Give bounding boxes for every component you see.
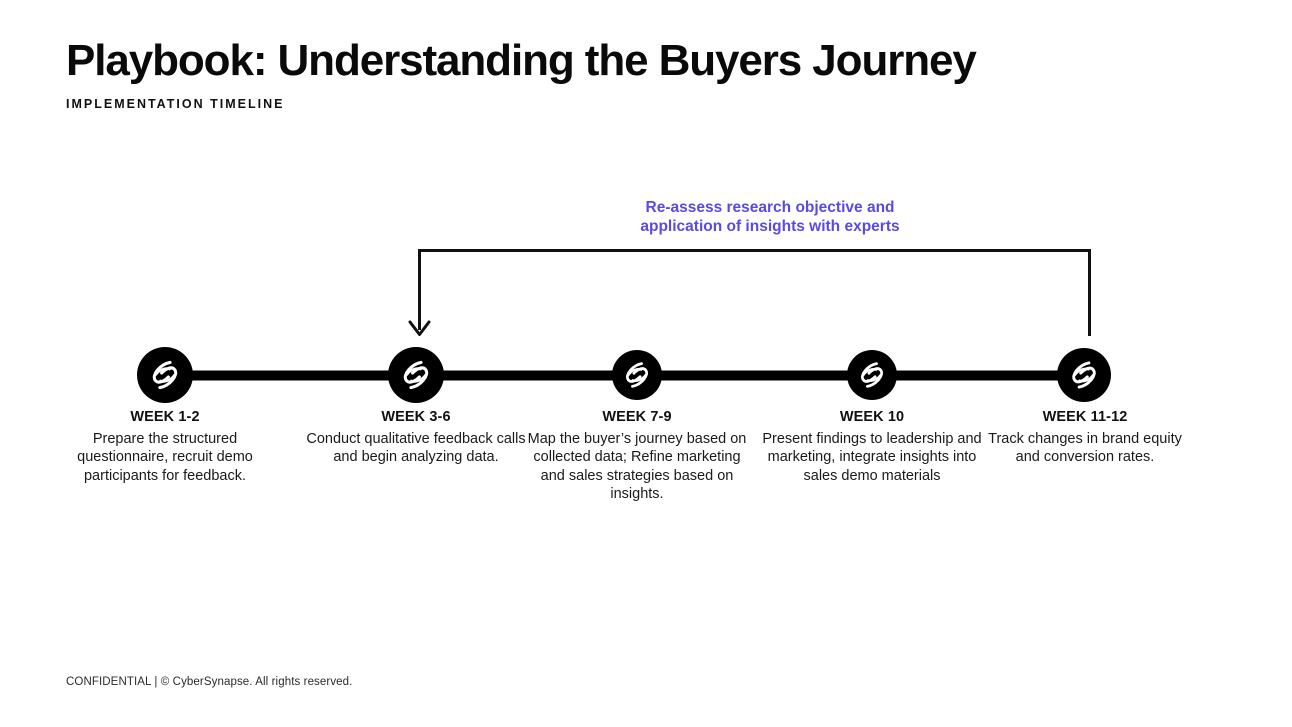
milestone-title: WEEK 7-9 [524, 408, 750, 426]
milestone-week-11-12: WEEK 11-12 Track changes in brand equity… [980, 408, 1190, 467]
milestone-week-1-2: WEEK 1-2 Prepare the structured question… [55, 408, 275, 485]
feedback-loop-bracket [410, 251, 1090, 337]
timeline-node-5 [1057, 348, 1111, 402]
milestone-description: Track changes in brand equity and conver… [980, 430, 1190, 467]
timeline-node-2 [388, 347, 444, 403]
milestone-week-3-6: WEEK 3-6 Conduct qualitative feedback ca… [300, 408, 532, 467]
milestone-title: WEEK 10 [756, 408, 988, 426]
milestone-labels: WEEK 1-2 Prepare the structured question… [0, 408, 1292, 558]
page-subtitle: IMPLEMENTATION TIMELINE [66, 97, 1166, 111]
timeline-node-1 [137, 347, 193, 403]
milestone-title: WEEK 1-2 [55, 408, 275, 426]
header: Playbook: Understanding the Buyers Journ… [66, 38, 1166, 111]
feedback-loop-annotation: Re-assess research objective and applica… [560, 199, 980, 237]
milestone-description: Map the buyer’s journey based on collect… [524, 430, 750, 503]
milestone-title: WEEK 3-6 [300, 408, 532, 426]
footer-confidentiality-notice: CONFIDENTIAL | © CyberSynapse. All right… [66, 676, 352, 688]
milestone-description: Prepare the structured questionnaire, re… [55, 430, 275, 485]
milestone-week-7-9: WEEK 7-9 Map the buyer’s journey based o… [524, 408, 750, 503]
timeline-node-3 [612, 350, 662, 400]
annotation-line-2: application of insights with experts [560, 218, 980, 237]
milestone-week-10: WEEK 10 Present findings to leadership a… [756, 408, 988, 485]
milestone-title: WEEK 11-12 [980, 408, 1190, 426]
annotation-line-1: Re-assess research objective and [560, 199, 980, 218]
milestone-description: Conduct qualitative feedback calls and b… [300, 430, 532, 467]
milestone-description: Present findings to leadership and marke… [756, 430, 988, 485]
page-title: Playbook: Understanding the Buyers Journ… [66, 38, 1166, 85]
timeline-node-4 [847, 350, 897, 400]
timeline-bar [160, 371, 1088, 381]
